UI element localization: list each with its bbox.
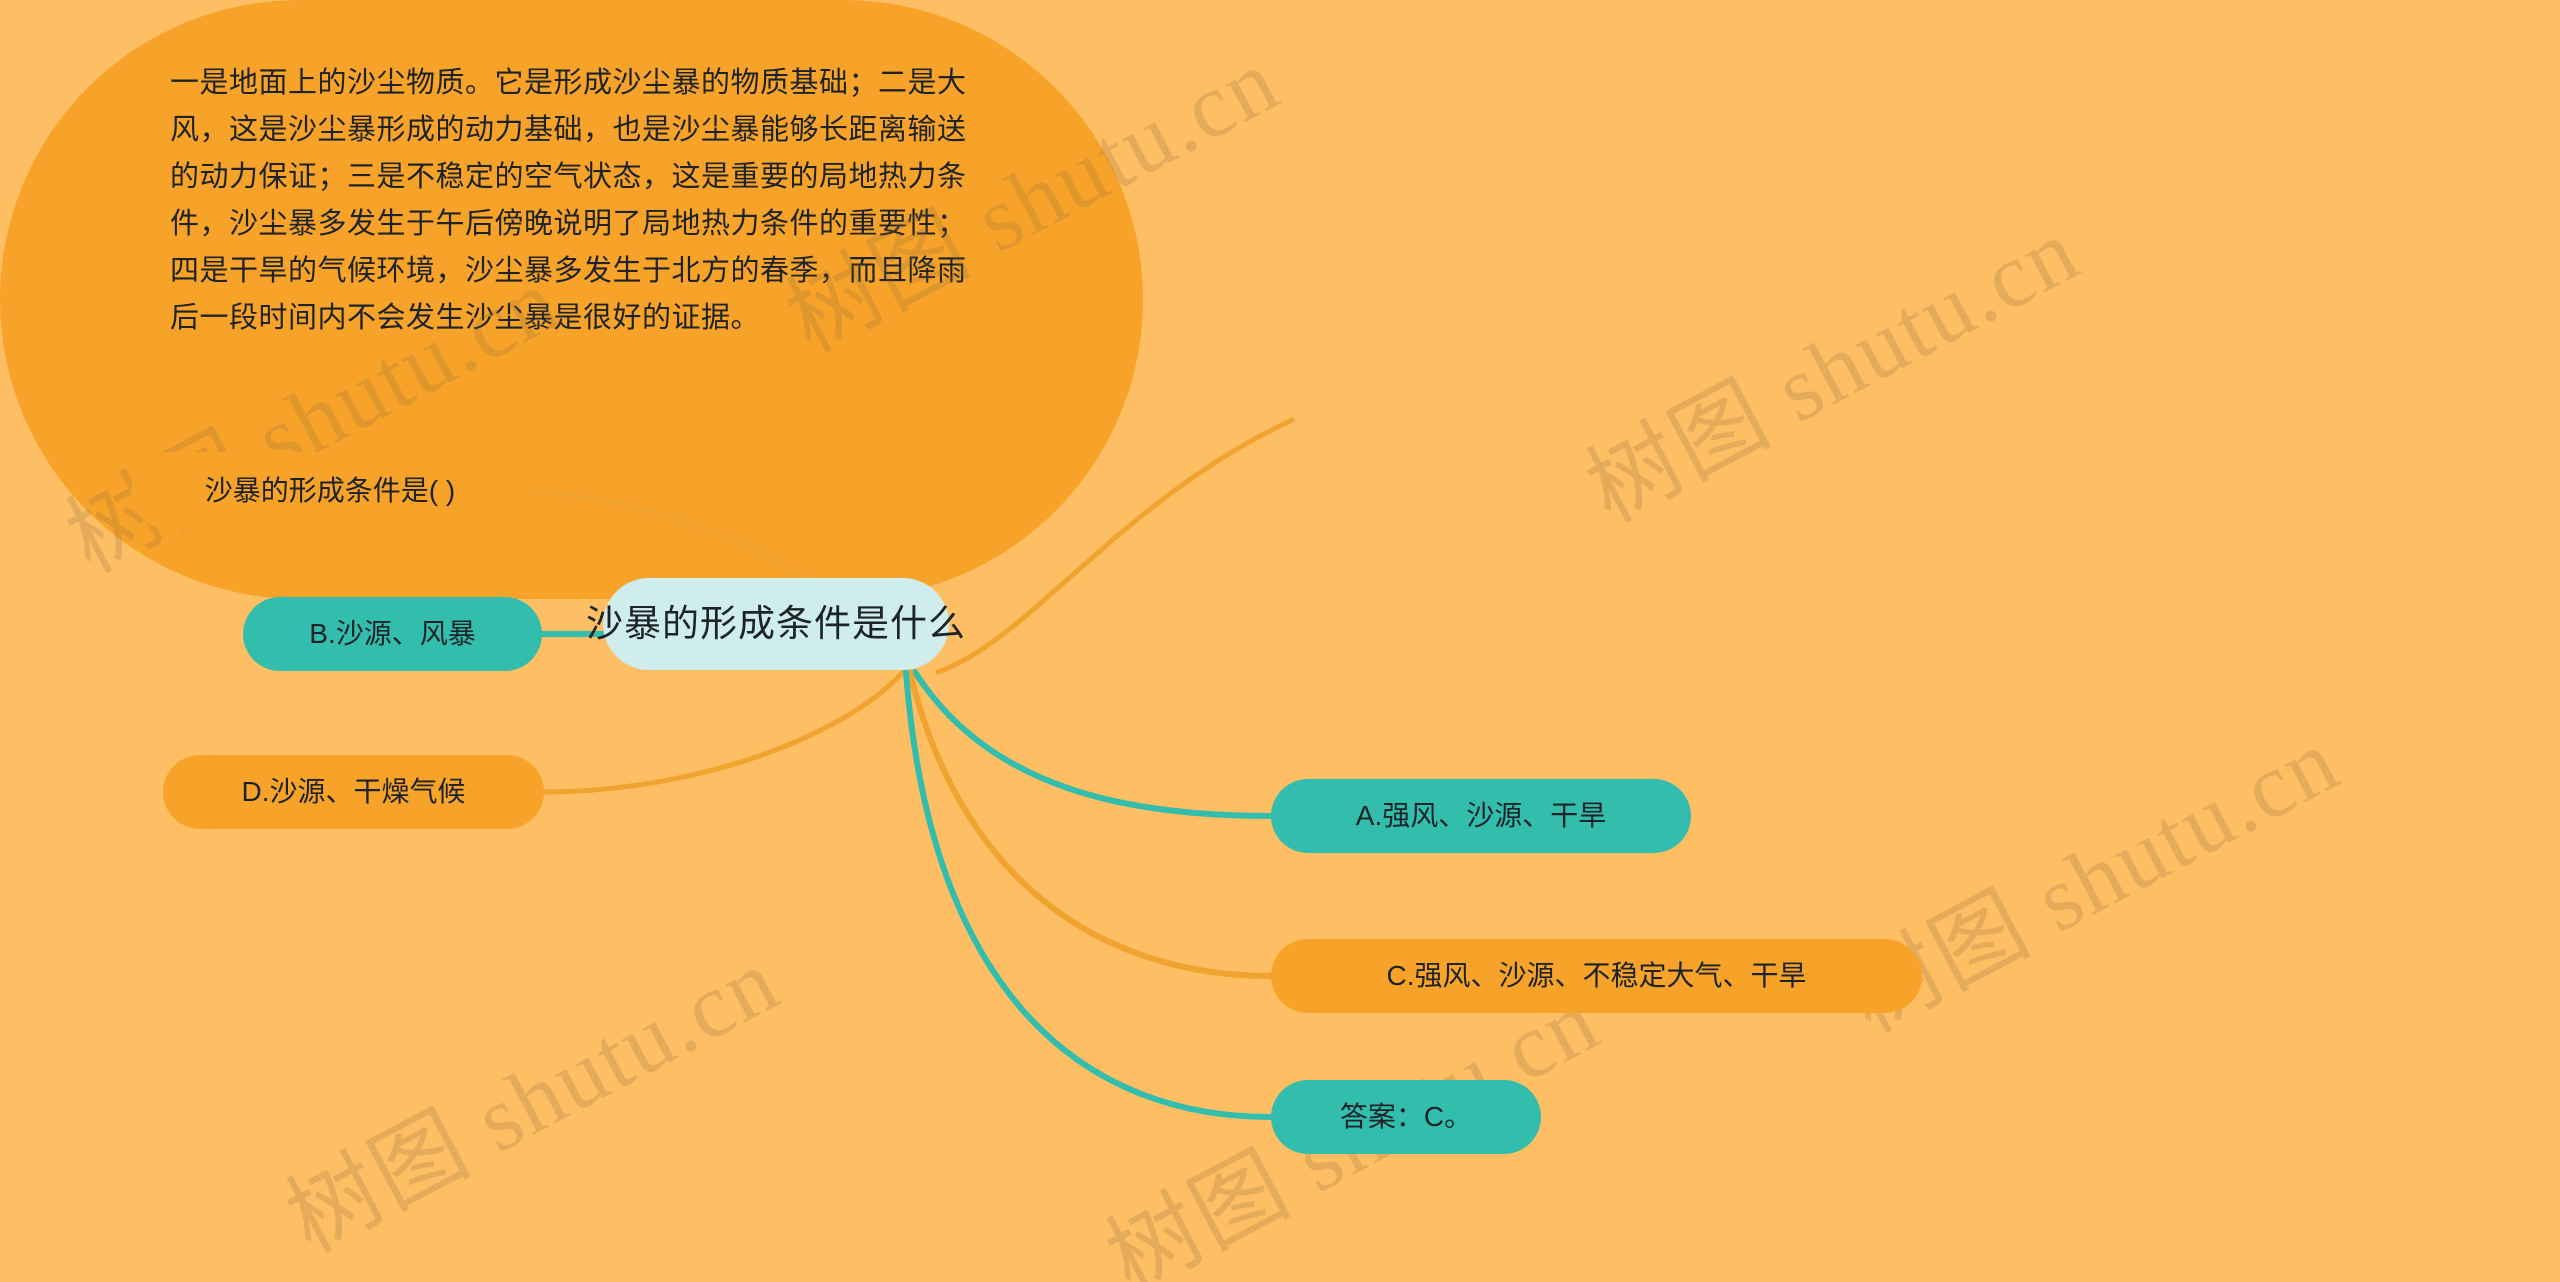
branch-label: 答案：C。 [1340, 1097, 1472, 1138]
branch-label: 沙暴的形成条件是( ) [205, 471, 455, 512]
branch-node-option-c[interactable]: C.强风、沙源、不稳定大气、干旱 [1271, 939, 1922, 1013]
connector-option-c [910, 672, 1271, 976]
branch-node-question[interactable]: 沙暴的形成条件是( ) [131, 452, 529, 530]
branch-label: C.强风、沙源、不稳定大气、干旱 [1386, 956, 1806, 997]
branch-node-option-b[interactable]: B.沙源、风暴 [243, 597, 542, 671]
branch-label: D.沙源、干燥气候 [241, 772, 465, 813]
branch-label: B.沙源、风暴 [309, 614, 475, 655]
branch-label: A.强风、沙源、干旱 [1356, 796, 1606, 837]
connector-option-d [544, 672, 903, 792]
branch-node-answer[interactable]: 答案：C。 [1271, 1080, 1541, 1154]
watermark-text: 树图 shutu.cn [1560, 177, 2098, 547]
connector-answer [906, 672, 1271, 1117]
connector-option-a [915, 672, 1271, 816]
watermark-text: 树图 shutu.cn [260, 907, 798, 1277]
branch-node-option-a[interactable]: A.强风、沙源、干旱 [1271, 779, 1691, 853]
root-node[interactable]: 沙暴的形成条件是什么 [603, 578, 949, 670]
mindmap-canvas: 树图 shutu.cn 树图 shutu.cn 树图 shutu.cn 树图 s… [0, 0, 2560, 1282]
root-label: 沙暴的形成条件是什么 [586, 597, 966, 651]
branch-node-option-d[interactable]: D.沙源、干燥气候 [163, 755, 544, 829]
detail-paragraph: 一是地面上的沙尘物质。它是形成沙尘暴的物质基础；二是大风，这是沙尘暴形成的动力基… [170, 60, 973, 342]
